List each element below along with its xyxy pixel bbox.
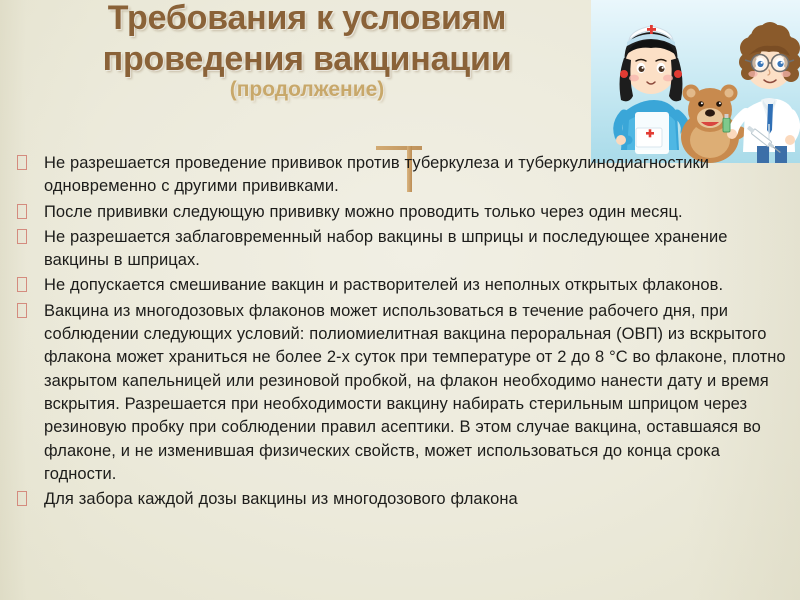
- list-item: Не разрешается проведение прививок проти…: [14, 152, 786, 199]
- list-item: Не допускается смешивание вакцин и раств…: [14, 274, 786, 297]
- list-item: После прививки следующую прививку можно …: [14, 201, 786, 224]
- list-item: Вакцина из многодозовых флаконов может и…: [14, 300, 786, 486]
- bullet-marker-icon: [14, 300, 44, 323]
- bullet-marker-icon: [14, 274, 44, 297]
- slide-title-block: Требования к условиям проведения вакцина…: [92, 0, 522, 102]
- slide-body-bullets: Не разрешается проведение прививок проти…: [14, 152, 786, 513]
- bullet-text: Не допускается смешивание вакцин и раств…: [44, 274, 786, 297]
- bullet-marker-icon: [14, 488, 44, 511]
- bullet-marker-icon: [14, 201, 44, 224]
- slide-title: Требования к условиям проведения вакцина…: [92, 0, 522, 80]
- list-item: Для забора каждой дозы вакцины из многод…: [14, 488, 786, 511]
- bullet-text: После прививки следующую прививку можно …: [44, 201, 786, 224]
- bullet-marker-icon: [14, 152, 44, 175]
- bullet-marker-icon: [14, 226, 44, 249]
- list-item: Не разрешается заблаговременный набор ва…: [14, 226, 786, 273]
- bullet-text: Не разрешается заблаговременный набор ва…: [44, 226, 786, 273]
- presentation-slide: Требования к условиям проведения вакцина…: [0, 0, 800, 600]
- bullet-text: Для забора каждой дозы вакцины из многод…: [44, 488, 786, 511]
- slide-subtitle: (продолжение): [92, 78, 522, 102]
- bullet-text: Не разрешается проведение прививок проти…: [44, 152, 786, 199]
- bullet-text: Вакцина из многодозовых флаконов может и…: [44, 300, 786, 486]
- vaccination-cartoon-illustration: [591, 0, 800, 163]
